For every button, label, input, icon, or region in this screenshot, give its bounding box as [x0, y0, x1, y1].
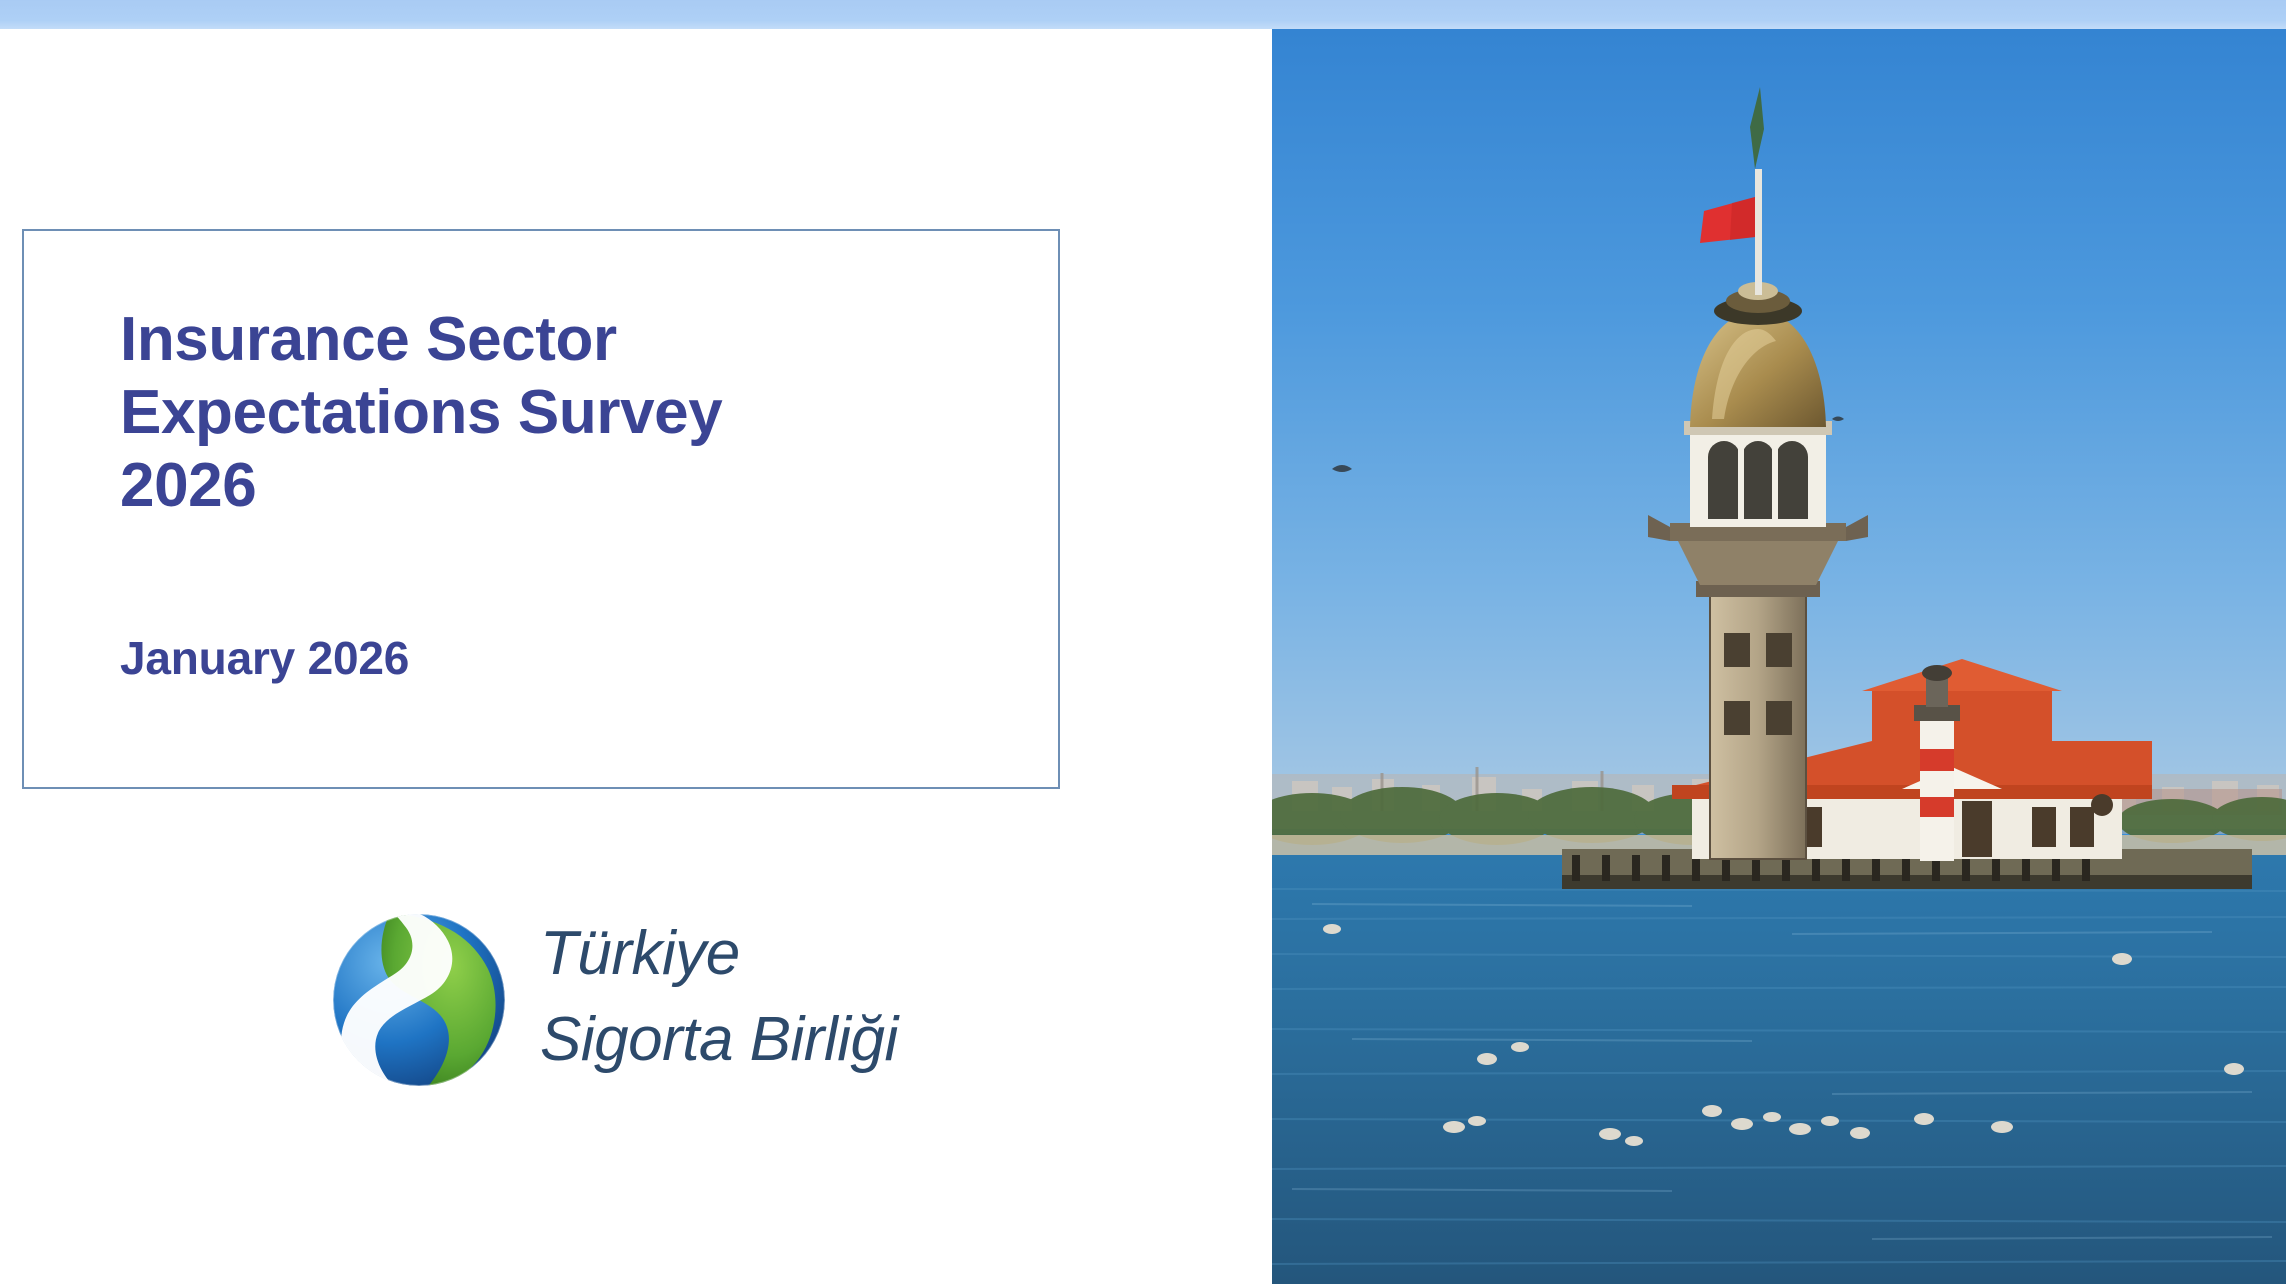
title-line-2: Expectations Survey — [120, 376, 1000, 449]
tower-shaft — [1696, 581, 1820, 859]
tsb-sphere-emblem-icon — [330, 911, 508, 1089]
page-title: Insurance Sector Expectations Survey 202… — [120, 303, 1000, 522]
title-line-1: Insurance Sector — [120, 303, 1000, 376]
organization-logo: Türkiye Sigorta Birliği — [330, 907, 1020, 1087]
logo-line-1: Türkiye — [540, 911, 1020, 997]
left-content-panel: Insurance Sector Expectations Survey 202… — [0, 29, 1272, 1284]
logo-line-2: Sigorta Birliği — [540, 997, 1020, 1083]
presentation-slide: Insurance Sector Expectations Survey 202… — [0, 0, 2286, 1284]
tower-lantern — [1684, 421, 1832, 527]
title-frame: Insurance Sector Expectations Survey 202… — [22, 229, 1060, 789]
maidens-tower-photo — [1272, 29, 2286, 1284]
subtitle-date: January 2026 — [120, 631, 409, 685]
logo-wordmark: Türkiye Sigorta Birliği — [540, 911, 1020, 1086]
top-accent-band — [0, 0, 2286, 29]
title-line-3: 2026 — [120, 449, 1000, 522]
